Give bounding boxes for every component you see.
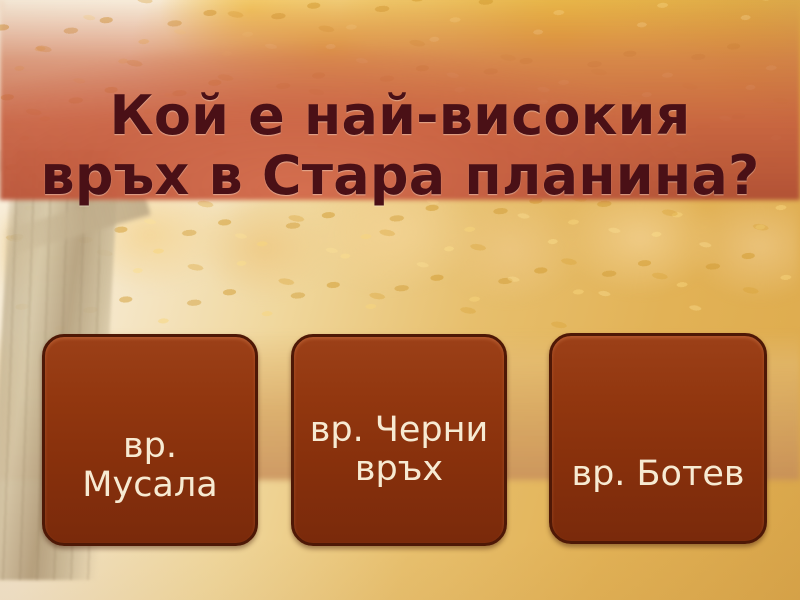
quiz-screen: Кой е най-високия връх в Стара планина? … xyxy=(0,0,800,600)
answer-button-2[interactable]: вр. Черни връх xyxy=(291,334,507,546)
answer-button-1-line-2: Мусала xyxy=(82,465,217,505)
answer-button-2-label: вр. Черни връх xyxy=(304,411,494,489)
answer-options: вр. Мусала вр. Черни връх вр. Ботев xyxy=(0,333,800,548)
question-text: Кой е най-високия връх в Стара планина? xyxy=(0,86,800,207)
answer-button-1[interactable]: вр. Мусала xyxy=(42,334,258,546)
answer-button-3[interactable]: вр. Ботев xyxy=(549,333,767,544)
answer-button-2-line-1: вр. Черни xyxy=(310,410,488,450)
answer-button-1-label: вр. Мусала xyxy=(55,427,245,505)
answer-button-2-line-2: връх xyxy=(355,449,443,489)
answer-button-3-line-1: вр. Ботев xyxy=(571,454,744,494)
question-line-2: връх в Стара планина? xyxy=(14,146,786,206)
question-line-1: Кой е най-високия xyxy=(14,86,786,146)
answer-button-1-line-1: вр. xyxy=(123,426,177,466)
answer-button-3-label: вр. Ботев xyxy=(562,455,754,494)
